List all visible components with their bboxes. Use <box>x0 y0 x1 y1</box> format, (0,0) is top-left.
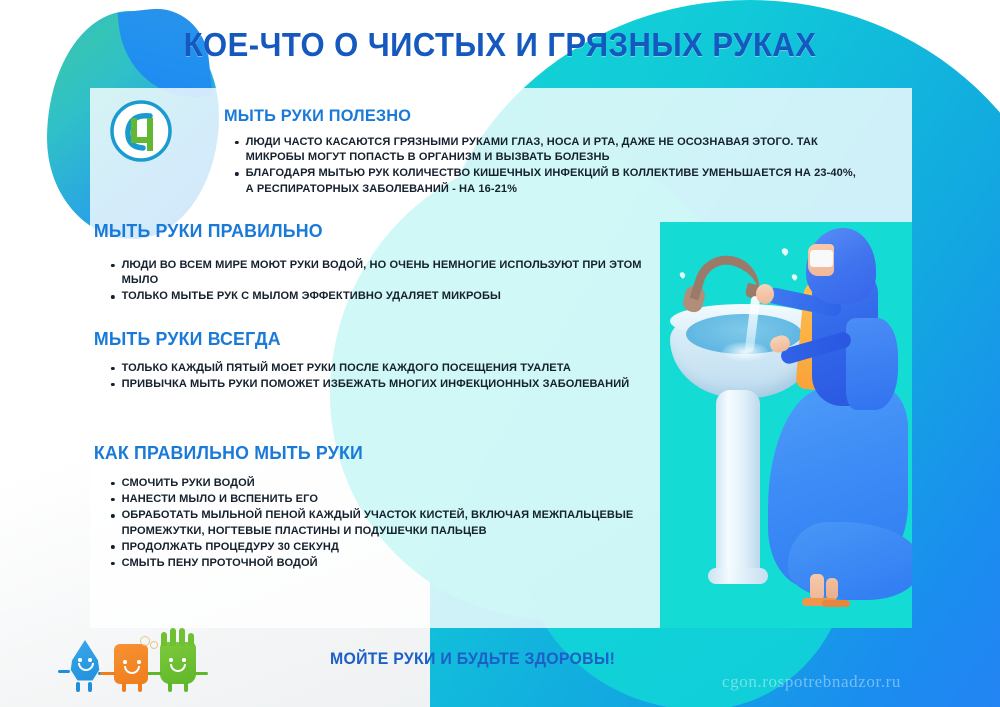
list-item: НАНЕСТИ МЫЛО И ВСПЕНИТЬ ЕГО <box>108 492 673 507</box>
section-useful: МЫТЬ РУКИ ПОЛЕЗНО ЛЮДИ ЧАСТО КАСАЮТСЯ ГР… <box>224 106 884 198</box>
list-item: ОБРАБОТАТЬ МЫЛЬНОЙ ПЕНОЙ КАЖДЫЙ УЧАСТОК … <box>108 508 673 538</box>
section-heading: КАК ПРАВИЛЬНО МЫТЬ РУКИ <box>90 442 666 464</box>
section-bullet-list: ЛЮДИ ВО ВСЕМ МИРЕ МОЮТ РУКИ ВОДОЙ, НО ОЧ… <box>90 258 690 305</box>
mascot-arm <box>148 672 162 675</box>
woman-skirt-hem <box>788 522 912 600</box>
section-bullet-list: ТОЛЬКО КАЖДЫЙ ПЯТЫЙ МОЕТ РУКИ ПОСЛЕ КАЖД… <box>90 361 690 392</box>
woman-leg <box>826 578 838 600</box>
list-item: БЛАГОДАРЯ МЫТЬЮ РУК КОЛИЧЕСТВО КИШЕЧНЫХ … <box>232 166 864 196</box>
list-item: ЛЮДИ ВО ВСЕМ МИРЕ МОЮТ РУКИ ВОДОЙ, НО ОЧ… <box>108 258 673 288</box>
list-item: ТОЛЬКО КАЖДЫЙ ПЯТЫЙ МОЕТ РУКИ ПОСЛЕ КАЖД… <box>108 361 673 376</box>
list-item: СМЫТЬ ПЕНУ ПРОТОЧНОЙ ВОДОЙ <box>108 556 673 571</box>
infographic-poster: КОЕ-ЧТО О ЧИСТЫХ И ГРЯЗНЫХ РУКАХ МЫТЬ РУ… <box>0 0 1000 707</box>
mascot-eye <box>169 658 173 662</box>
section-how-to: КАК ПРАВИЛЬНО МЫТЬ РУКИ СМОЧИТЬ РУКИ ВОД… <box>90 442 690 572</box>
mascot-finger <box>170 628 176 646</box>
page-title: КОЕ-ЧТО О ЧИСТЫХ И ГРЯЗНЫХ РУКАХ <box>30 26 970 64</box>
list-item: ЛЮДИ ЧАСТО КАСАЮТСЯ ГРЯЗНЫМИ РУКАМИ ГЛАЗ… <box>232 135 864 165</box>
list-item: ПРОДОЛЖАТЬ ПРОЦЕДУРУ 30 СЕКУНД <box>108 540 673 555</box>
illustration-handwashing <box>660 222 912 628</box>
mascot-group <box>62 636 222 698</box>
section-bullet-list: СМОЧИТЬ РУКИ ВОДОЙ НАНЕСТИ МЫЛО И ВСПЕНИ… <box>90 476 690 571</box>
section-heading: МЫТЬ РУКИ ПРАВИЛЬНО <box>90 220 666 242</box>
mascot-leg <box>122 682 126 692</box>
mascot-leg <box>76 682 80 692</box>
footer-slogan: МОЙТЕ РУКИ И БУДЬТЕ ЗДОРОВЫ! <box>330 650 615 669</box>
section-heading: МЫТЬ РУКИ ПОЛЕЗНО <box>224 106 858 126</box>
mascot-eye <box>137 660 141 664</box>
list-item: СМОЧИТЬ РУКИ ВОДОЙ <box>108 476 673 491</box>
list-item: ТОЛЬКО МЫТЬЕ РУК С МЫЛОМ ЭФФЕКТИВНО УДАЛ… <box>108 289 673 304</box>
soap-bar-mascot <box>114 644 148 684</box>
mascot-leg <box>168 682 172 692</box>
mascot-finger <box>161 632 167 646</box>
soap-bubble-icon <box>150 641 158 649</box>
content-card: МЫТЬ РУКИ ПОЛЕЗНО ЛЮДИ ЧАСТО КАСАЮТСЯ ГР… <box>90 88 912 628</box>
mascot-eye <box>78 658 82 662</box>
soap-bubble-icon <box>140 636 150 646</box>
woman-sandal <box>822 600 850 607</box>
mascot-arm <box>58 670 70 673</box>
mascot-arm <box>194 672 208 675</box>
mascot-leg <box>138 682 142 692</box>
mascot-finger <box>188 633 194 646</box>
section-bullet-list: ЛЮДИ ЧАСТО КАСАЮТСЯ ГРЯЗНЫМИ РУКАМИ ГЛАЗ… <box>224 135 884 197</box>
sink-pedestal <box>716 390 760 580</box>
woman-leg <box>810 574 824 600</box>
cgon-logo <box>110 100 172 162</box>
source-watermark: cgon.rospotrebnadzor.ru <box>722 672 901 692</box>
section-heading: МЫТЬ РУКИ ВСЕГДА <box>90 328 666 350</box>
mascot-finger <box>179 628 185 646</box>
sink-foot <box>708 568 768 584</box>
mascot-leg <box>88 682 92 692</box>
logo-icon <box>110 100 172 162</box>
woman-hand-soap <box>756 284 774 304</box>
section-correctly: МЫТЬ РУКИ ПРАВИЛЬНО ЛЮДИ ВО ВСЕМ МИРЕ МО… <box>90 220 690 306</box>
mascot-arm <box>100 672 116 675</box>
woman-coat-flap <box>846 318 898 410</box>
green-hand-mascot <box>160 642 196 684</box>
mascot-eye <box>182 658 186 662</box>
face-mask-icon <box>810 250 833 267</box>
water-droplet-mascot <box>68 640 102 684</box>
water-splash-icon <box>722 342 768 362</box>
list-item: ПРИВЫЧКА МЫТЬ РУКИ ПОМОЖЕТ ИЗБЕЖАТЬ МНОГ… <box>108 377 673 392</box>
mascot-leg <box>184 682 188 692</box>
mascot-eye <box>88 658 92 662</box>
mascot-eye <box>123 660 127 664</box>
section-always: МЫТЬ РУКИ ВСЕГДА ТОЛЬКО КАЖДЫЙ ПЯТЫЙ МОЕ… <box>90 328 690 393</box>
